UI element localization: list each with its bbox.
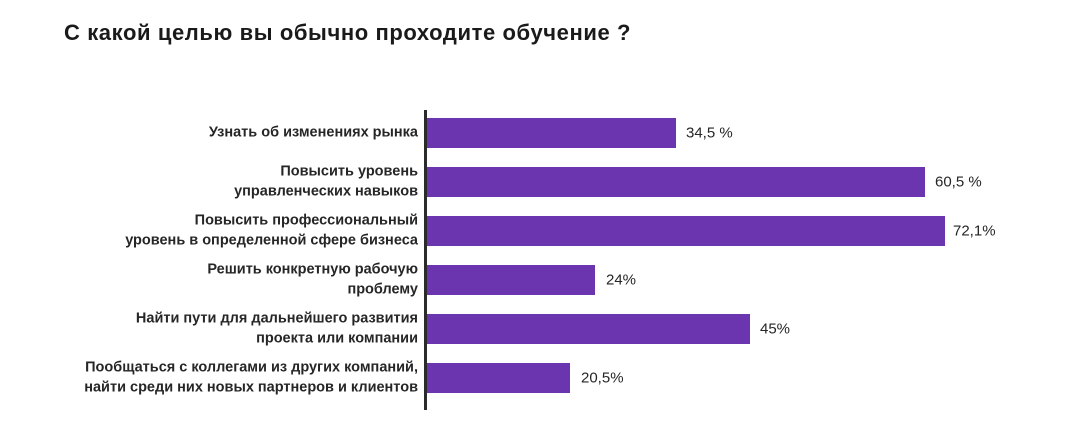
bar-value-label: 34,5 % [686, 125, 733, 142]
bar-value-label: 20,5% [581, 370, 624, 387]
bar-category-label: Решить конкретную рабочуюпроблему [0, 261, 418, 300]
bar-category-label: Повысить уровеньуправленческих навыков [0, 163, 418, 202]
bar-rect[interactable] [427, 314, 750, 344]
bar-rect[interactable] [427, 167, 925, 197]
bar-value-label: 72,1% [953, 223, 996, 240]
bar-value-label: 24% [606, 272, 636, 289]
bar-category-label: Пообщаться с коллегами из других компани… [0, 359, 418, 398]
bar-value-label: 45% [760, 321, 790, 338]
chart-canvas: С какой целью вы обычно проходите обучен… [0, 0, 1066, 444]
bar-category-label: Найти пути для дальнейшего развитияпроек… [0, 310, 418, 349]
bar-value-label: 60,5 % [935, 174, 982, 191]
bar-rect[interactable] [427, 118, 676, 148]
bar-rect[interactable] [427, 265, 595, 295]
bar-category-label: Узнать об изменениях рынка [0, 123, 418, 143]
bar-category-label: Повысить профессиональныйуровень в опред… [0, 212, 418, 251]
bar-rect[interactable] [427, 363, 570, 393]
bar-rect[interactable] [427, 216, 945, 246]
plot-area: Узнать об изменениях рынка 34,5 % Повыси… [0, 108, 1066, 413]
page-title: С какой целью вы обычно проходите обучен… [64, 20, 631, 46]
